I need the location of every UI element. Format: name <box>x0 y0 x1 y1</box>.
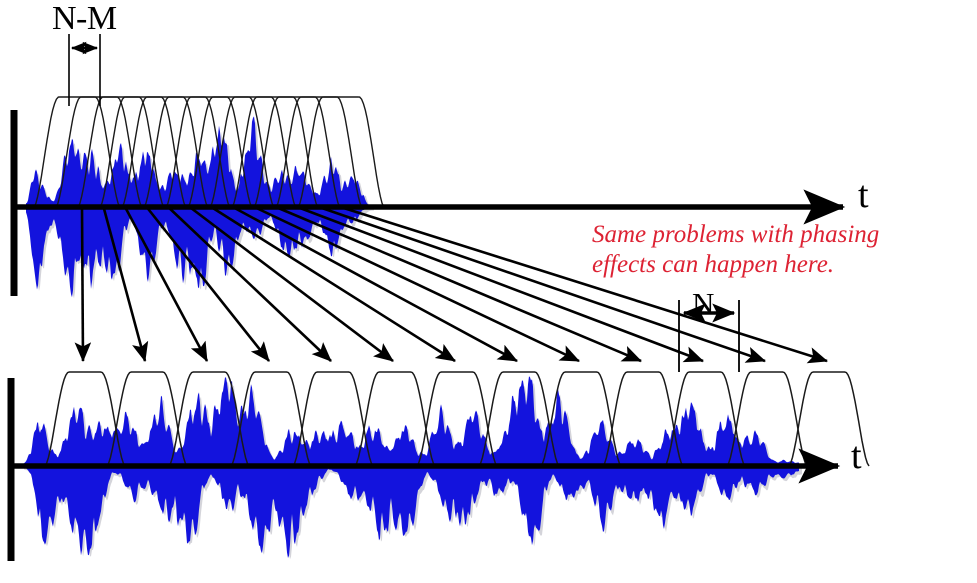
top-hop-measure <box>69 34 100 106</box>
phasing-annotation-line-2: effects can happen here. <box>592 250 879 280</box>
time-axis-label-top: t <box>858 176 869 214</box>
bottom-panel <box>8 372 869 561</box>
mapping-arrow <box>235 208 517 361</box>
stft-windowing-diagram <box>0 0 977 583</box>
phasing-annotation-line-1: Same problems with phasing <box>592 220 879 250</box>
hop-label-top: N-M <box>52 2 117 36</box>
time-axis-label-bottom: t <box>851 437 862 475</box>
phasing-annotation: Same problems with phasing effects can h… <box>592 220 879 279</box>
mapping-arrow <box>82 208 83 361</box>
hop-label-bottom: N <box>692 288 714 319</box>
figure-root: N-M N t t Same problems with phasing eff… <box>0 0 977 583</box>
